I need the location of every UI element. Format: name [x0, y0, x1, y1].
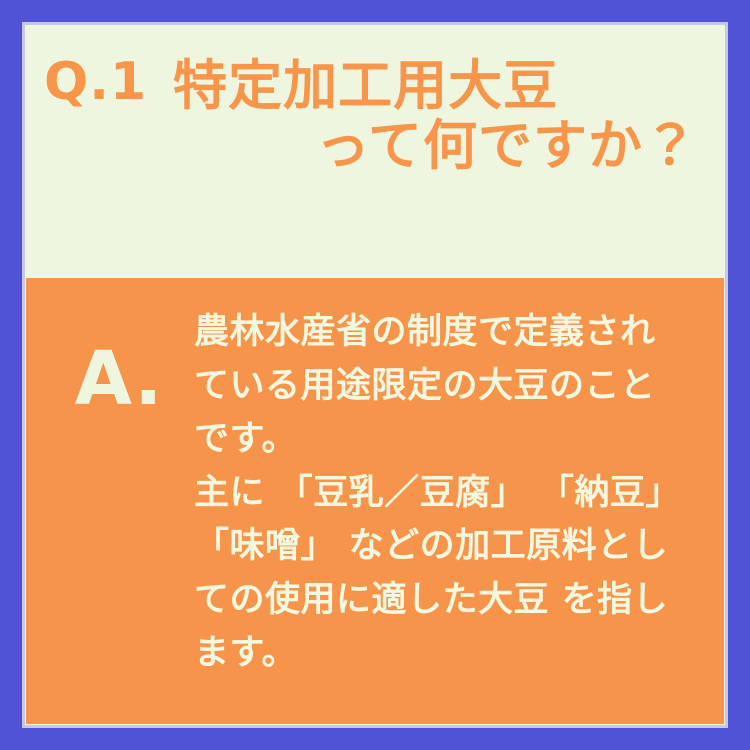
answer-line: 農林水産省の制度で定義され — [194, 306, 706, 360]
question-section: Q.1 特定加工用大豆 って何ですか？ — [26, 26, 724, 278]
answer-letter: A. — [44, 300, 194, 714]
question-text: 特定加工用大豆 って何ですか？ — [173, 56, 704, 177]
answer-line: です。 — [194, 413, 706, 467]
qa-card: Q.1 特定加工用大豆 って何ですか？ A. 農林水産省の制度で定義され ている… — [26, 26, 724, 724]
answer-line: 「味噌」 などの加工原料とし — [194, 520, 706, 574]
answer-text: 農林水産省の制度で定義され ている用途限定の大豆のこと です。 主に 「豆乳／豆… — [194, 300, 706, 714]
qa-card-frame: Q.1 特定加工用大豆 って何ですか？ A. 農林水産省の制度で定義され ている… — [0, 0, 750, 750]
answer-line: ている用途限定の大豆のこと — [194, 360, 706, 414]
question-number: Q.1 — [44, 56, 173, 109]
answer-line: ます。 — [194, 627, 706, 681]
answer-section: A. 農林水産省の制度で定義され ている用途限定の大豆のこと です。 主に 「豆… — [26, 278, 724, 724]
question-line-1: 特定加工用大豆 — [173, 56, 704, 116]
answer-line: ての使用に適した大豆 を指し — [194, 574, 706, 628]
question-line-2: って何ですか？ — [173, 116, 704, 176]
answer-line: 主に 「豆乳／豆腐」 「納豆」 — [194, 467, 706, 521]
question-row: Q.1 特定加工用大豆 って何ですか？ — [44, 56, 704, 177]
